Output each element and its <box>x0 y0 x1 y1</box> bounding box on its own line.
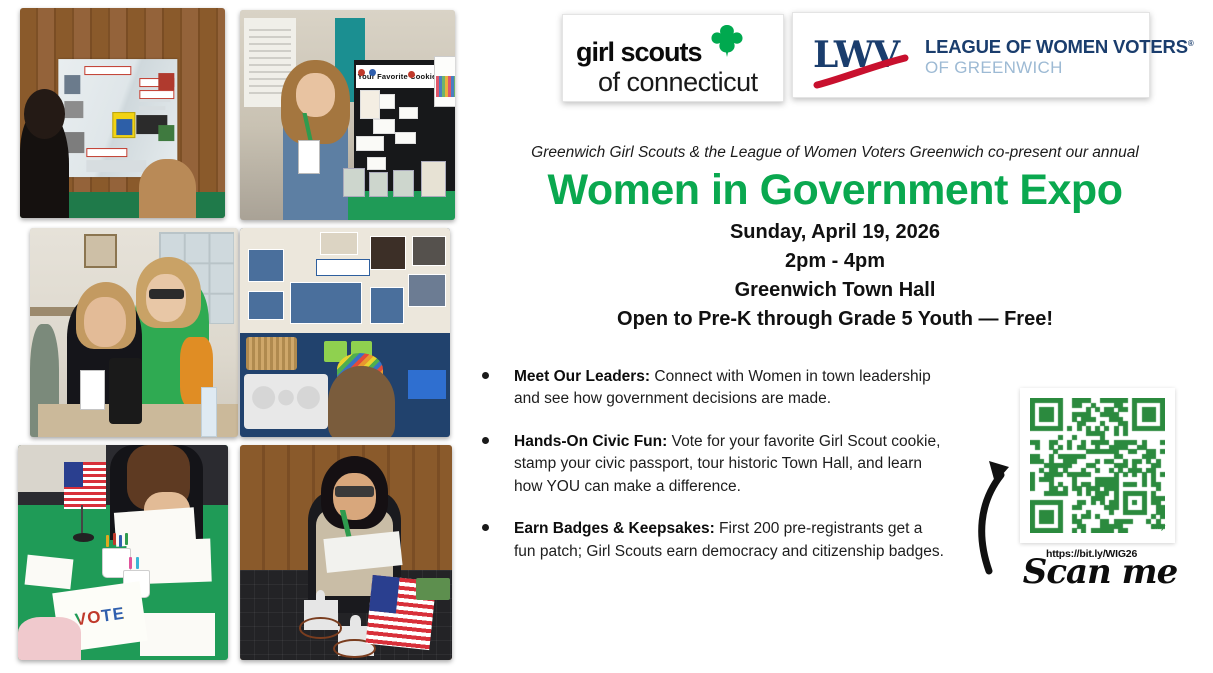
list-item: Earn Badges & Keepsakes: First 200 pre-r… <box>478 518 948 563</box>
lwv-monogram-icon: LWV <box>813 33 917 89</box>
bullet-dot-icon <box>482 372 489 379</box>
qr-code[interactable]: bitly <box>1020 388 1175 543</box>
page-title: Women in Government Expo <box>470 168 1200 213</box>
list-item: Hands-On Civic Fun: Vote for your favori… <box>478 431 948 498</box>
list-item-heading: Earn Badges & Keepsakes: <box>514 520 715 537</box>
photo-vote-sign-craft-table: VOTE <box>18 445 228 660</box>
photo-caption-cookie-banner: Your Favorite Cookie <box>356 65 438 88</box>
photo-two-women-at-table <box>30 228 238 437</box>
girl-scouts-logo: girl scouts of connecticut <box>562 14 784 102</box>
lwv-greenwich-logo: LWV LEAGUE OF WOMEN VOTERS® OF GREENWICH <box>792 12 1150 98</box>
event-audience: Open to Pre-K through Grade 5 Youth — Fr… <box>470 305 1200 334</box>
photo-girl-scout-with-flag <box>240 445 452 660</box>
bullet-dot-icon <box>482 524 489 531</box>
event-location: Greenwich Town Hall <box>470 276 1200 305</box>
event-date: Sunday, April 19, 2026 <box>470 218 1200 247</box>
lwv-line1-text: LEAGUE OF WOMEN VOTERS <box>925 36 1188 57</box>
photo-rosie-riveter-display-board <box>20 8 225 218</box>
event-kicker: Greenwich Girl Scouts & the League of Wo… <box>470 144 1200 162</box>
bullet-dot-icon <box>482 437 489 444</box>
event-details: Sunday, April 19, 2026 2pm - 4pm Greenwi… <box>470 218 1200 334</box>
girl-scouts-line2: of connecticut <box>598 69 758 96</box>
list-item: Meet Our Leaders: Connect with Women in … <box>478 366 948 411</box>
qr-code-canvas[interactable] <box>1030 398 1165 533</box>
photo-cookie-vote-booth: Your Favorite Cookie <box>240 10 455 220</box>
qr-url-label: https://bit.ly/WIG26 <box>1046 548 1137 560</box>
list-item-heading: Meet Our Leaders: <box>514 368 650 385</box>
highlights-list: Meet Our Leaders: Connect with Women in … <box>478 366 948 583</box>
girl-scouts-line1: girl scouts <box>576 39 758 66</box>
lwv-line1: LEAGUE OF WOMEN VOTERS® <box>925 36 1194 58</box>
bitly-watermark: bitly <box>1152 524 1165 531</box>
event-time: 2pm - 4pm <box>470 247 1200 276</box>
lwv-line2: OF GREENWICH <box>925 58 1063 78</box>
lwv-registered-mark: ® <box>1188 39 1194 48</box>
event-flyer: Your Favorite Cookie <box>0 0 1213 673</box>
girl-scouts-wordmark: girl scouts of connecticut <box>576 39 758 96</box>
list-item-heading: Hands-On Civic Fun: <box>514 433 667 450</box>
photo-craft-table-photo-board <box>240 228 450 437</box>
